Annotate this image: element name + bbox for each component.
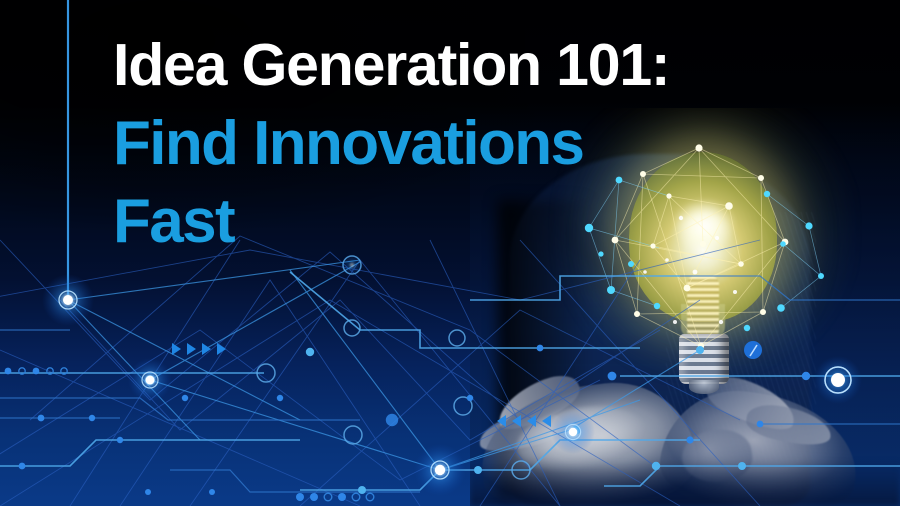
headline-line-2: Find Innovations [113,113,873,175]
triangle-left-icon [527,415,536,427]
slash-node [744,341,762,359]
headline-line-3: Fast [113,191,873,253]
triangle-right-icon [202,343,211,355]
hero-banner: Idea Generation 101: Find Innovations Fa… [0,0,900,506]
glow-nodes [42,254,862,496]
headline-line-1: Idea Generation 101: [113,36,873,95]
triangle-right-icon [187,343,196,355]
triangle-left-icon [512,415,521,427]
triangle-right-icon [217,343,226,355]
triangle-left-icon [542,415,551,427]
triangle-right-icon [172,343,181,355]
triangle-left-icon [497,415,506,427]
headline-block: Idea Generation 101: Find Innovations Fa… [113,36,873,253]
dot-row-bottom [296,493,374,501]
